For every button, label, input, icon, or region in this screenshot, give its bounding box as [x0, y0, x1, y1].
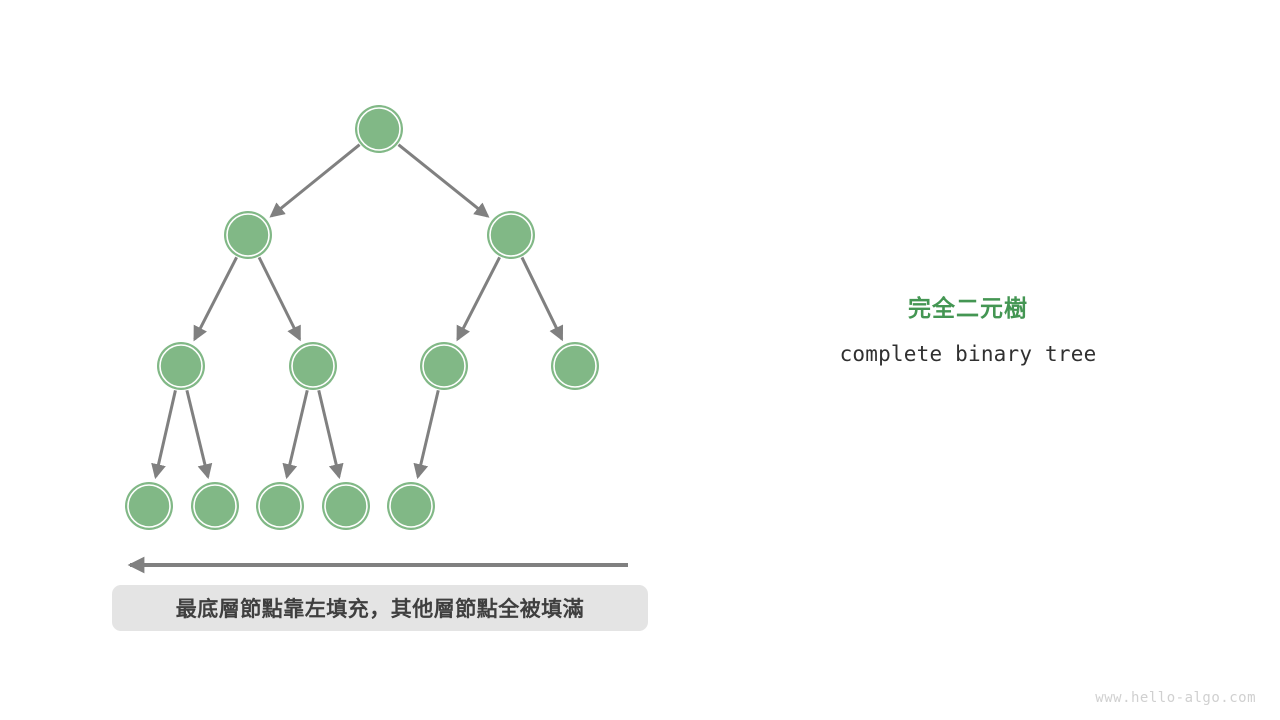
caption-label: 最底層節點靠左填充，其他層節點全被填滿: [176, 593, 585, 623]
tree-node-disc: [157, 342, 205, 390]
tree-node-disc: [387, 482, 435, 530]
diagram-stage: 最底層節點靠左填充，其他層節點全被填滿 完全二元樹 complete binar…: [0, 0, 1280, 720]
tree-node-disc: [487, 211, 535, 259]
tree-edge: [156, 390, 176, 476]
tree-edge: [195, 257, 237, 339]
tree-node-disc: [322, 482, 370, 530]
tree-edge: [287, 390, 307, 476]
tree-edge: [187, 390, 208, 477]
tree-node[interactable]: [224, 211, 272, 259]
caption-box: 最底層節點靠左填充，其他層節點全被填滿: [112, 585, 648, 631]
tree-node[interactable]: [256, 482, 304, 530]
legend-title: 完全二元樹: [780, 295, 1156, 323]
tree-edge: [259, 257, 300, 339]
tree-node-disc: [289, 342, 337, 390]
tree-edge-layer: [156, 145, 562, 477]
tree-node[interactable]: [157, 342, 205, 390]
tree-edge: [522, 257, 562, 339]
tree-node[interactable]: [420, 342, 468, 390]
tree-node[interactable]: [125, 482, 173, 530]
legend-subtitle: complete binary tree: [780, 342, 1156, 366]
tree-node[interactable]: [322, 482, 370, 530]
tree-node[interactable]: [551, 342, 599, 390]
tree-edge: [271, 145, 359, 216]
tree-node-disc: [256, 482, 304, 530]
site-watermark: www.hello-algo.com: [1095, 690, 1256, 706]
tree-node-disc: [191, 482, 239, 530]
tree-node[interactable]: [387, 482, 435, 530]
tree-node[interactable]: [487, 211, 535, 259]
tree-edge: [418, 390, 438, 476]
tree-edge: [458, 257, 500, 339]
tree-node-disc: [355, 105, 403, 153]
tree-node-disc: [551, 342, 599, 390]
tree-edge: [398, 145, 487, 217]
tree-node[interactable]: [355, 105, 403, 153]
tree-node[interactable]: [191, 482, 239, 530]
tree-node-disc: [420, 342, 468, 390]
legend-block: 完全二元樹 complete binary tree: [780, 295, 1156, 366]
tree-node-layer: [125, 105, 599, 530]
tree-node-disc: [224, 211, 272, 259]
tree-node-disc: [125, 482, 173, 530]
tree-node[interactable]: [289, 342, 337, 390]
tree-edge: [319, 390, 339, 476]
